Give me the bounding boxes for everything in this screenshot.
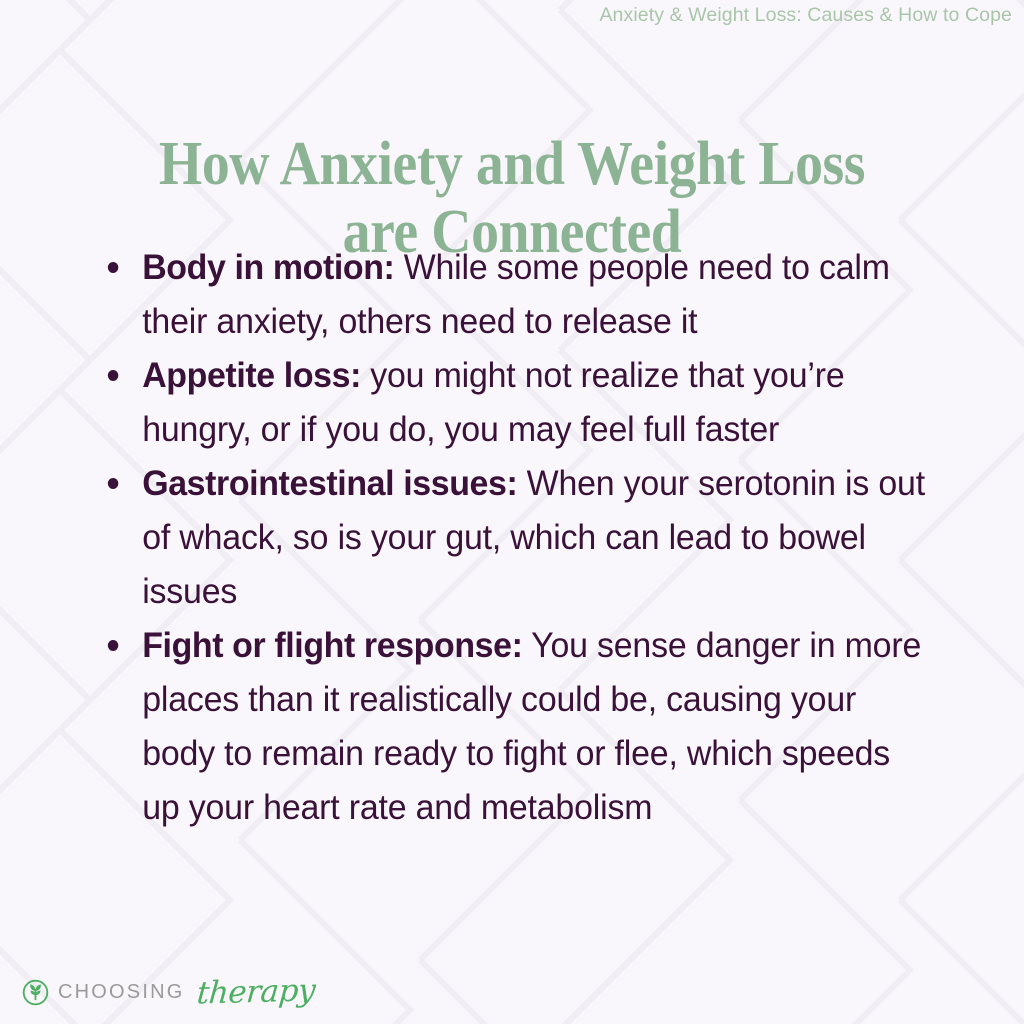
bullet-dot-icon: [108, 640, 119, 651]
infographic-canvas: Anxiety & Weight Loss: Causes & How to C…: [0, 0, 1024, 1024]
list-item: Gastrointestinal issues: When your serot…: [104, 456, 933, 618]
logo-script-wordmark: therapy: [195, 972, 316, 1011]
causes-list: Body in motion: While some people need t…: [104, 240, 972, 834]
list-item-lead: Gastrointestinal issues:: [142, 463, 517, 503]
list-item: Fight or flight response: You sense dang…: [104, 618, 933, 834]
bullet-dot-icon: [108, 370, 119, 381]
list-item-lead: Body in motion:: [142, 247, 394, 287]
choosing-therapy-logo[interactable]: CHOOSING therapy: [22, 974, 314, 1010]
list-item-lead: Fight or flight response:: [142, 625, 522, 665]
article-eyebrow: Anxiety & Weight Loss: Causes & How to C…: [599, 4, 1012, 27]
logo-wordmark: CHOOSING: [58, 981, 185, 1004]
list-item: Body in motion: While some people need t…: [104, 240, 933, 348]
leaf-circle-icon: [22, 979, 49, 1006]
bullet-dot-icon: [108, 478, 119, 489]
list-item: Appetite loss: you might not realize tha…: [104, 348, 933, 456]
page-title-line-1: How Anxiety and Weight Loss: [51, 130, 973, 198]
list-item-lead: Appetite loss:: [142, 355, 361, 395]
bullet-dot-icon: [108, 262, 119, 273]
